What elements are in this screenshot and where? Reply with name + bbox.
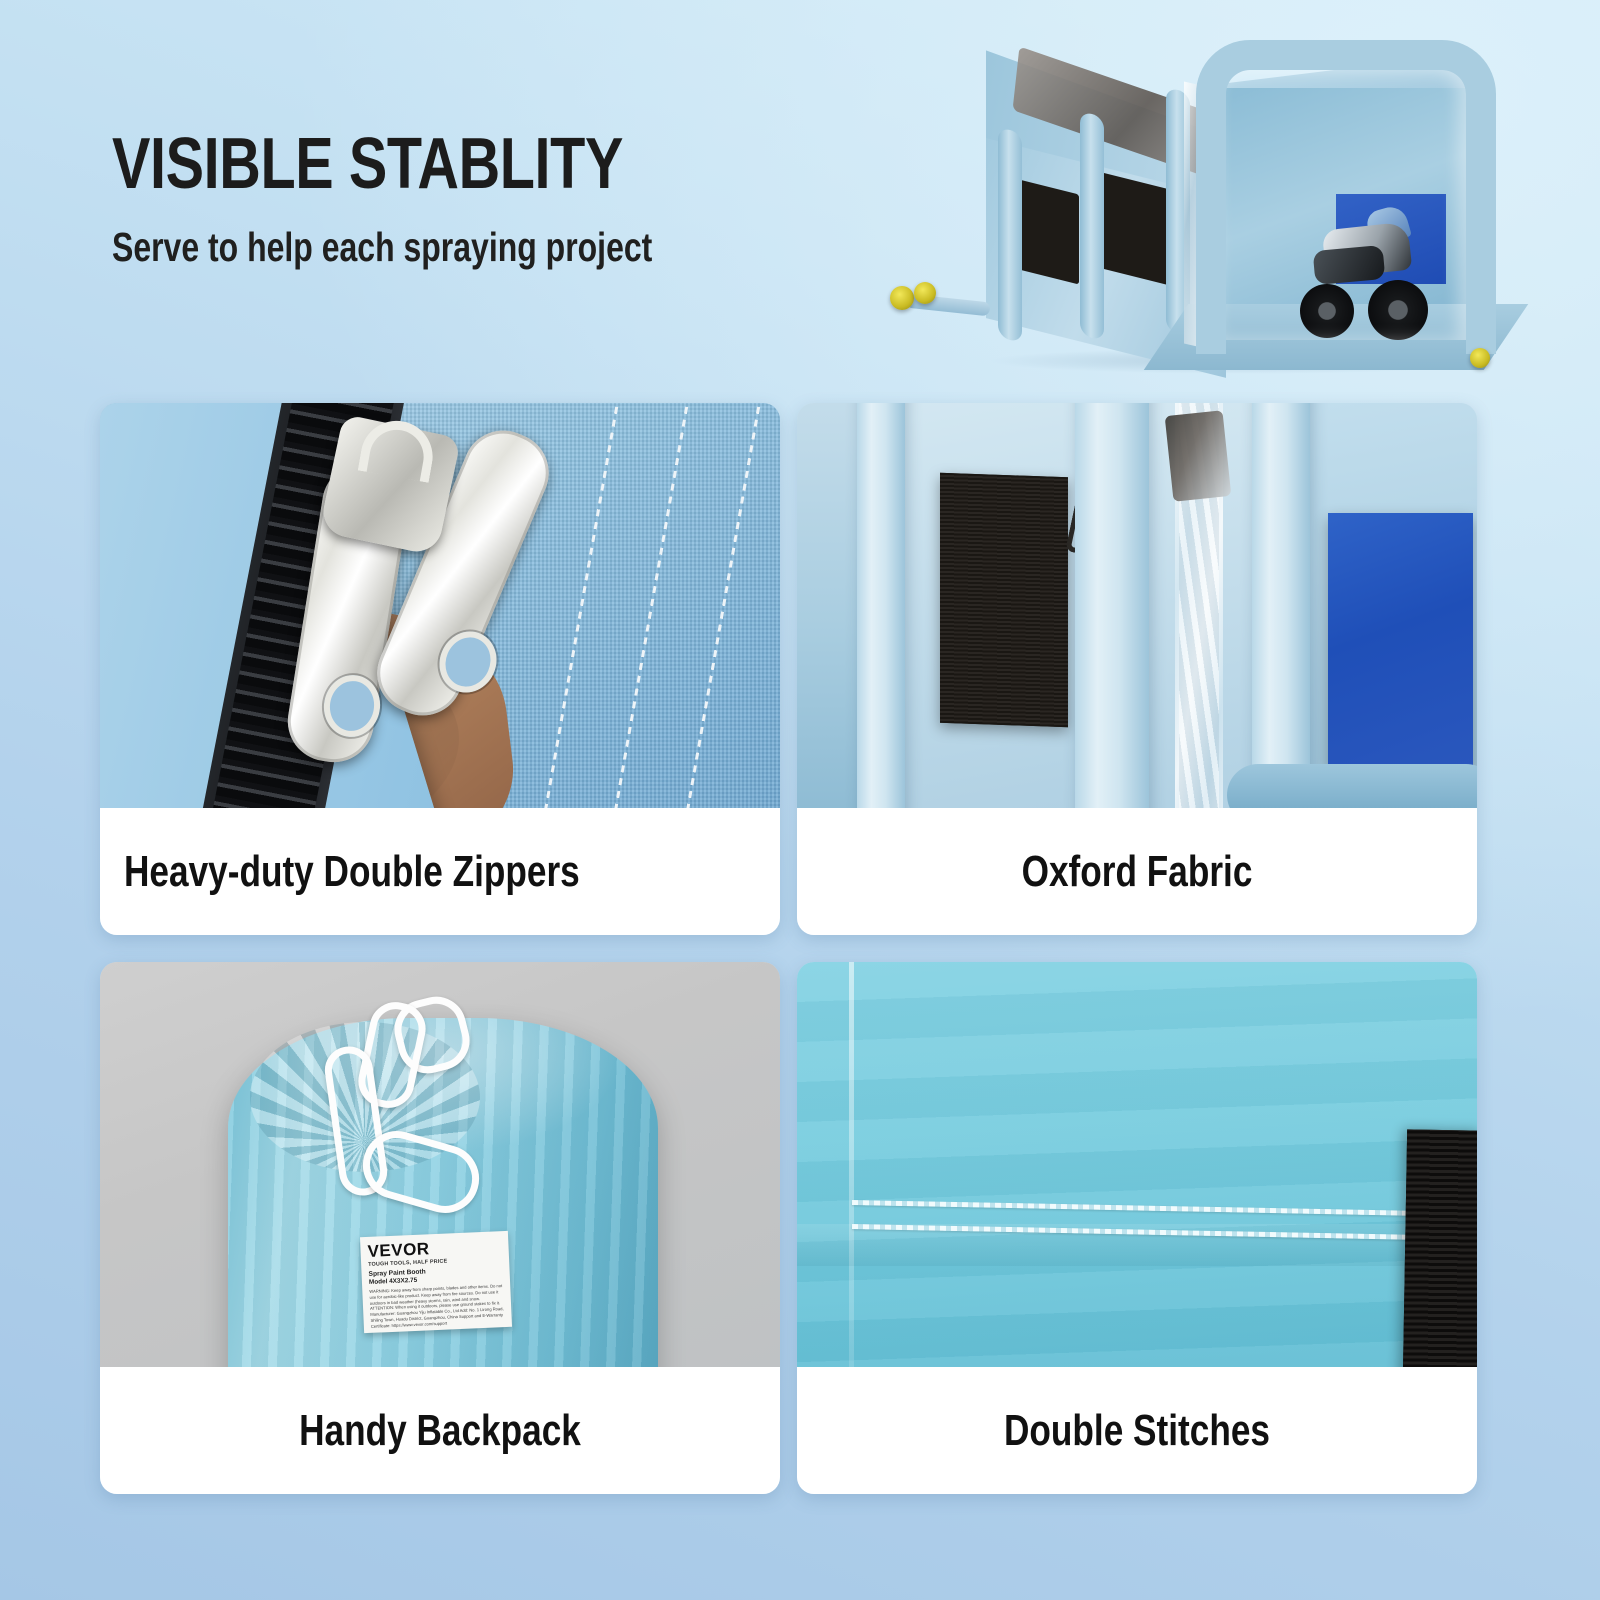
inflatable-column-right xyxy=(1252,403,1310,808)
base-inflatable-tube xyxy=(1227,764,1477,808)
header-block: VISIBLE STABLITY Serve to help each spra… xyxy=(112,128,872,269)
zipper-photo xyxy=(100,403,780,808)
card-caption-bar: Heavy-duty Double Zippers xyxy=(100,808,780,935)
label-fine-print: WARNING: Keep away from sharp points, bl… xyxy=(369,1283,505,1329)
hero-product-image xyxy=(866,18,1582,390)
page-subtitle: Serve to help each spraying project xyxy=(112,226,705,269)
inflatable-paint-booth-illustration xyxy=(866,18,1582,390)
feature-card-oxford-fabric[interactable]: Oxford Fabric xyxy=(797,403,1477,935)
side-window-2 xyxy=(1094,171,1170,286)
card-caption-bar: Double Stitches xyxy=(797,1367,1477,1494)
inflatable-column-left xyxy=(857,403,905,808)
card-caption-bar: Oxford Fabric xyxy=(797,808,1477,935)
fabric-wrinkles xyxy=(797,962,1477,1367)
black-velcro-strip xyxy=(1403,1129,1477,1367)
fabric-fold-edge xyxy=(849,962,854,1367)
backpack-photo: VEVOR TOUGH TOOLS, HALF PRICE Spray Pain… xyxy=(100,962,780,1367)
card-caption-label: Heavy-duty Double Zippers xyxy=(100,847,644,897)
blower-fan-3 xyxy=(1470,348,1490,368)
inflatable-rib-2 xyxy=(1080,111,1104,341)
page-title: VISIBLE STABLITY xyxy=(112,128,720,200)
plastic-top-fold xyxy=(1165,410,1232,502)
inflatable-rib-1 xyxy=(998,127,1022,343)
blower-fan-1 xyxy=(890,286,914,310)
black-mesh-window xyxy=(940,473,1068,727)
inflatable-column-mid xyxy=(1075,403,1149,808)
oxford-fabric-photo xyxy=(797,403,1477,808)
feature-card-heavy-duty-double-zippers[interactable]: Heavy-duty Double Zippers xyxy=(100,403,780,935)
feature-card-grid: Heavy-duty Double Zippers Oxford Fabric xyxy=(100,403,1500,1518)
blower-fan-2 xyxy=(914,282,936,304)
feature-card-double-stitches[interactable]: Double Stitches xyxy=(797,962,1477,1494)
front-arch-frame xyxy=(1196,40,1496,340)
card-caption-bar: Handy Backpack xyxy=(100,1367,780,1494)
feature-card-handy-backpack[interactable]: VEVOR TOUGH TOOLS, HALF PRICE Spray Pain… xyxy=(100,962,780,1494)
double-stitches-photo xyxy=(797,962,1477,1367)
front-leg-left xyxy=(1196,318,1226,354)
product-label: VEVOR TOUGH TOOLS, HALF PRICE Spray Pain… xyxy=(360,1231,512,1333)
card-caption-label: Oxford Fabric xyxy=(865,847,1409,897)
blue-filter-panel xyxy=(1328,513,1473,768)
card-caption-label: Handy Backpack xyxy=(168,1406,712,1456)
card-caption-label: Double Stitches xyxy=(865,1406,1409,1456)
